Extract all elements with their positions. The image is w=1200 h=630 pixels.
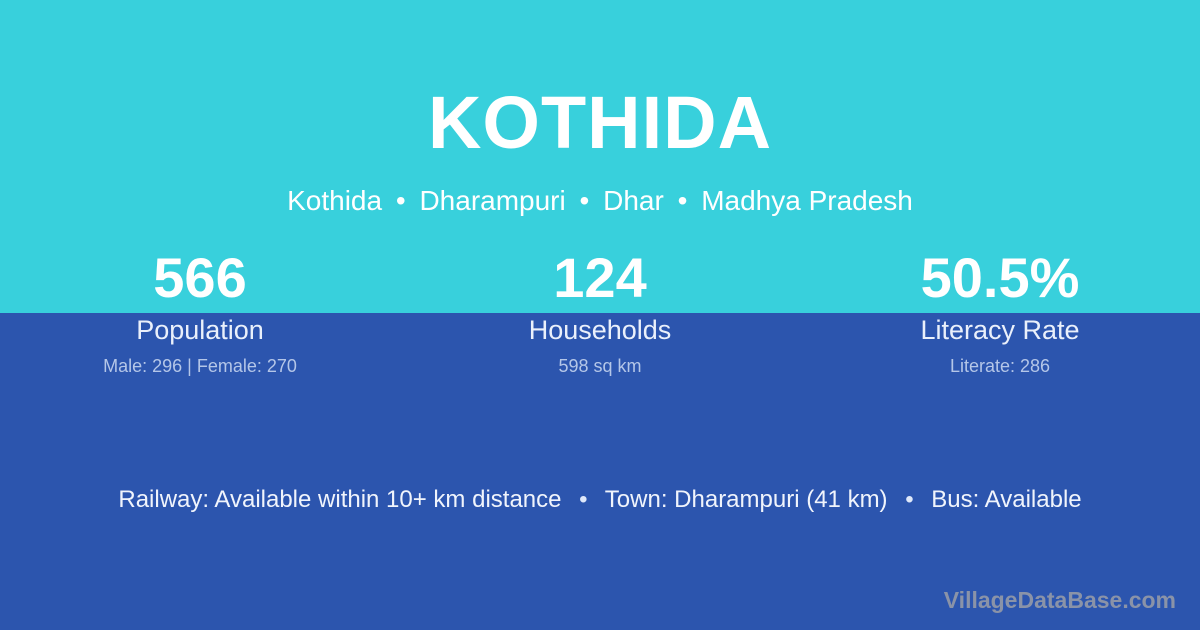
stat-households: 124 Households 598 sq km: [400, 248, 800, 377]
breadcrumb-village: Kothida: [287, 185, 382, 216]
stat-value: 50.5%: [800, 248, 1200, 308]
stat-label: Literacy Rate: [800, 315, 1200, 345]
stat-literacy-rate: 50.5% Literacy Rate Literate: 286: [800, 248, 1200, 377]
facility-separator-2: •: [894, 486, 924, 513]
facilities-line: Railway: Available within 10+ km distanc…: [0, 485, 1200, 515]
statistics-row: 566 Population Male: 296 | Female: 270 1…: [0, 248, 1200, 377]
stat-sublabel: Literate: 286: [800, 355, 1200, 377]
breadcrumb-block: Dharampuri: [419, 185, 565, 216]
facility-railway: Railway: Available within 10+ km distanc…: [118, 486, 561, 513]
page-title: KOTHIDA: [0, 0, 1200, 160]
breadcrumb-state: Madhya Pradesh: [701, 185, 913, 216]
breadcrumb: Kothida • Dharampuri • Dhar • Madhya Pra…: [0, 160, 1200, 217]
stat-sublabel: 598 sq km: [400, 355, 800, 377]
village-info-card: KOTHIDA Kothida • Dharampuri • Dhar • Ma…: [0, 0, 1200, 630]
stat-value: 566: [0, 248, 400, 308]
breadcrumb-separator-3: •: [672, 185, 694, 216]
breadcrumb-district: Dhar: [603, 185, 664, 216]
stat-sublabel: Male: 296 | Female: 270: [0, 355, 400, 377]
stat-population: 566 Population Male: 296 | Female: 270: [0, 248, 400, 377]
stat-value: 124: [400, 248, 800, 308]
facility-bus: Bus: Available: [931, 486, 1081, 513]
breadcrumb-separator-1: •: [390, 185, 412, 216]
card-header: KOTHIDA Kothida • Dharampuri • Dhar • Ma…: [0, 0, 1200, 217]
facility-town: Town: Dharampuri (41 km): [605, 486, 888, 513]
stat-label: Households: [400, 315, 800, 345]
site-watermark: VillageDataBase.com: [944, 587, 1176, 613]
facility-separator-1: •: [568, 486, 598, 513]
breadcrumb-separator-2: •: [574, 185, 596, 216]
stat-label: Population: [0, 315, 400, 345]
